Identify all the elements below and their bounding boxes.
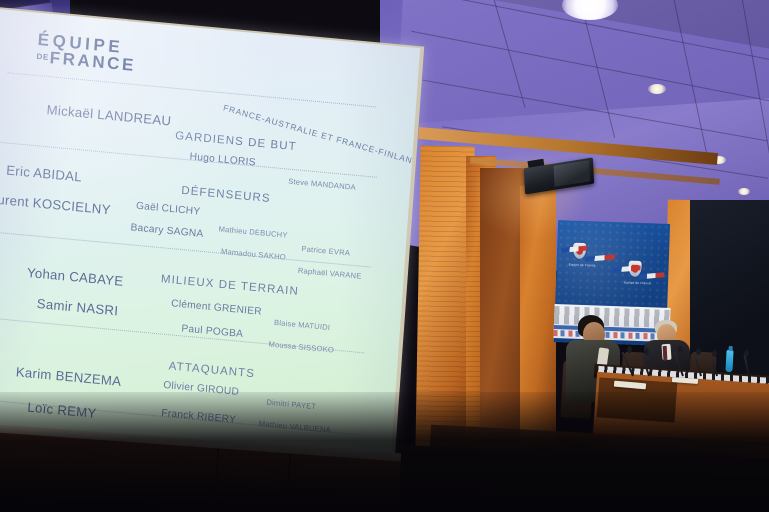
wood-wall-pillar xyxy=(520,186,556,446)
press-conference-photo: ÉQUIPE DEFRANCE FRANCE-AUSTRALIE ET FRAN… xyxy=(0,0,769,512)
microphone-head xyxy=(744,350,749,357)
player-name: Loïc REMY xyxy=(27,399,97,420)
player-name: Moussa SISSOKO xyxy=(268,339,334,354)
slide-content: ÉQUIPE DEFRANCE FRANCE-AUSTRALIE ET FRAN… xyxy=(0,8,420,480)
player-name: Hugo LLORIS xyxy=(189,151,256,168)
section-heading-defenseurs: DÉFENSEURS xyxy=(181,185,271,205)
slide-divider xyxy=(7,72,376,107)
player-name: Dimitri PAYET xyxy=(266,398,316,412)
microphone-head xyxy=(712,350,717,357)
microphone-head xyxy=(644,348,649,355)
floor xyxy=(399,445,769,512)
player-name: Laurent KOSCIELNY xyxy=(0,190,111,217)
player-name: Clément GRENIER xyxy=(171,298,262,317)
microphone-head xyxy=(678,346,683,353)
slide-header-de: DE xyxy=(36,52,49,62)
player-name: Olivier GIROUD xyxy=(163,380,239,398)
player-name: Mathieu VALBUENA xyxy=(259,419,332,435)
projection-screen: ÉQUIPE DEFRANCE FRANCE-AUSTRALIE ET FRAN… xyxy=(0,6,424,486)
microphone-head xyxy=(627,346,632,353)
screen-surface: ÉQUIPE DEFRANCE FRANCE-AUSTRALIE ET FRAN… xyxy=(0,8,420,480)
player-name: Patrice EVRA xyxy=(301,244,350,257)
section-heading-attaquants: ATTAQUANTS xyxy=(168,360,255,380)
player-name: Gaël CLICHY xyxy=(136,201,201,218)
player-name: Steve MANDANDA xyxy=(288,177,356,192)
player-name: Mathieu DEBUCHY xyxy=(218,224,288,239)
player-name: Blaise MATUIDI xyxy=(274,318,331,332)
ceiling-light xyxy=(648,84,666,94)
slide-header: ÉQUIPE DEFRANCE xyxy=(36,31,138,75)
water-bottle xyxy=(725,350,733,372)
ceiling-light xyxy=(738,188,750,195)
player-name: Mamadou SAKHO xyxy=(221,247,286,262)
player-name: Karim BENZEMA xyxy=(15,364,121,389)
sponsor-logo-band xyxy=(553,304,670,342)
player-name: Mickaël LANDREAU xyxy=(46,102,172,129)
player-name: Yohan CABAYE xyxy=(27,265,124,289)
section-heading-gardiens: GARDIENS DE BUT xyxy=(175,130,297,153)
necktie xyxy=(663,346,668,360)
player-name: Raphaël VARANE xyxy=(298,266,362,281)
player-name: Eric ABIDAL xyxy=(6,163,83,185)
monitor-panel xyxy=(553,160,590,187)
section-heading-milieux: MILIEUX DE TERRAIN xyxy=(160,273,299,298)
slide-header-line2: FRANCE xyxy=(49,48,136,75)
player-name: Samir NASRI xyxy=(36,296,118,319)
microphone-head xyxy=(696,348,701,355)
player-name: Bacary SAGNA xyxy=(130,222,204,240)
player-name: Franck RIBERY xyxy=(161,408,236,426)
